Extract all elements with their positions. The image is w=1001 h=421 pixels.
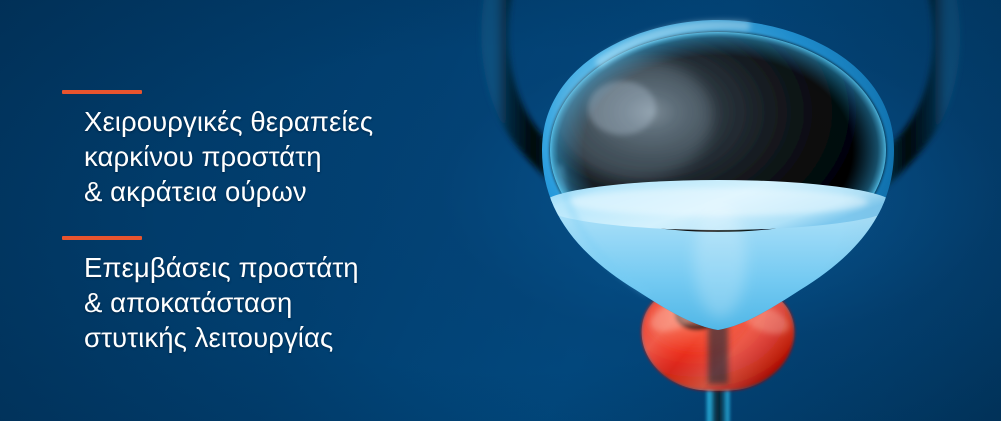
promo-banner: Χειρουργικές θεραπείες καρκίνου προστάτη… xyxy=(0,0,1001,421)
accent-bar-1 xyxy=(62,90,142,94)
urine-fill xyxy=(542,180,894,332)
headline-block-2: Επεμβάσεις προστάτη & αποκατάσταση στυτι… xyxy=(84,250,359,355)
accent-bar-2 xyxy=(62,236,142,240)
bladder-prostate-anatomy-illustration xyxy=(470,0,1001,421)
text-column: Χειρουργικές θεραπείες καρκίνου προστάτη… xyxy=(0,0,470,421)
headline-block-1: Χειρουργικές θεραπείες καρκίνου προστάτη… xyxy=(84,104,373,209)
